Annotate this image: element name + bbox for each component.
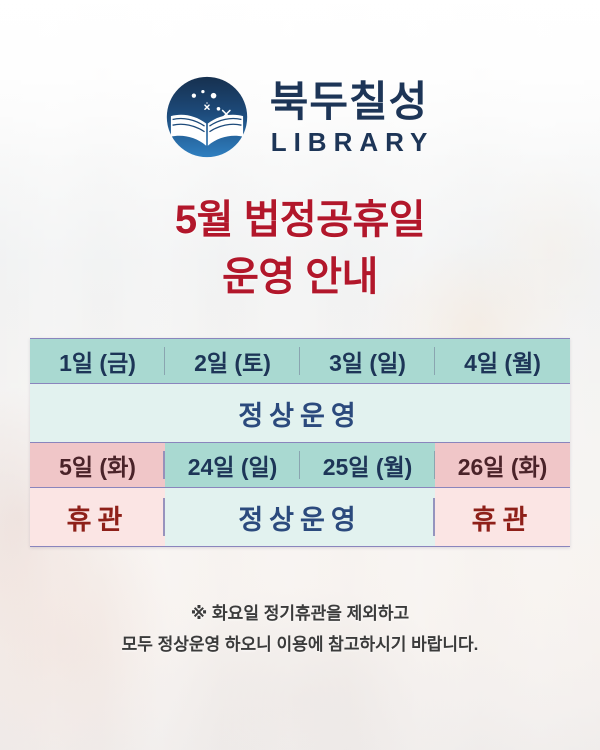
footer-note-line2: 모두 정상운영 하오니 이용에 참고하시기 바랍니다. — [0, 629, 600, 660]
schedule-cell-date: 25일 (월) — [300, 443, 435, 488]
schedule-cell-date: 5일 (화) — [30, 443, 165, 488]
schedule-cell-date: 1일 (금) — [30, 339, 165, 384]
schedule-cell-date: 26일 (화) — [435, 443, 570, 488]
table-row: 5일 (화) 24일 (일) 25일 (월) 26일 (화) — [30, 443, 570, 488]
schedule-cell-date: 2일 (토) — [165, 339, 300, 384]
schedule-cell-date: 4일 (월) — [435, 339, 570, 384]
brand-name-ko: 북두칠성 — [270, 81, 429, 123]
schedule-table: 1일 (금) 2일 (토) 3일 (일) 4일 (월) 정상운영 5일 (화) … — [30, 338, 570, 547]
schedule-cell-status: 정상운영 — [30, 384, 570, 443]
schedule-cell-status: 정상운영 — [165, 488, 435, 547]
page-title-line1: 5월 법정공휴일 — [175, 198, 425, 242]
table-row: 정상운영 — [30, 384, 570, 443]
brand-name-en: LIBRARY — [264, 129, 435, 155]
schedule-cell-status: 휴관 — [30, 488, 165, 547]
schedule-cell-date: 24일 (일) — [165, 443, 300, 488]
table-row: 휴관 정상운영 휴관 — [30, 488, 570, 547]
brand-wordmark: 북두칠성 LIBRARY — [264, 81, 435, 155]
poster-content: 북두칠성 LIBRARY 5월 법정공휴일 운영 안내 1일 (금) 2일 (토… — [0, 0, 600, 750]
schedule-table-body: 1일 (금) 2일 (토) 3일 (일) 4일 (월) 정상운영 5일 (화) … — [30, 339, 570, 547]
footer-note: ※ 화요일 정기휴관을 제외하고 모두 정상운영 하오니 이용에 참고하시기 바… — [0, 598, 600, 661]
schedule-cell-status: 휴관 — [435, 488, 570, 547]
schedule-cell-date: 3일 (일) — [300, 339, 435, 384]
holiday-notice-poster: 북두칠성 LIBRARY 5월 법정공휴일 운영 안내 1일 (금) 2일 (토… — [0, 0, 600, 750]
page-title: 5월 법정공휴일 운영 안내 — [0, 192, 600, 306]
open-book-constellation-icon — [166, 76, 248, 158]
brand-logo: 북두칠성 LIBRARY — [0, 76, 600, 158]
page-title-line2: 운영 안내 — [0, 249, 600, 306]
footer-note-line1: ※ 화요일 정기휴관을 제외하고 — [191, 604, 409, 623]
table-row: 1일 (금) 2일 (토) 3일 (일) 4일 (월) — [30, 339, 570, 384]
